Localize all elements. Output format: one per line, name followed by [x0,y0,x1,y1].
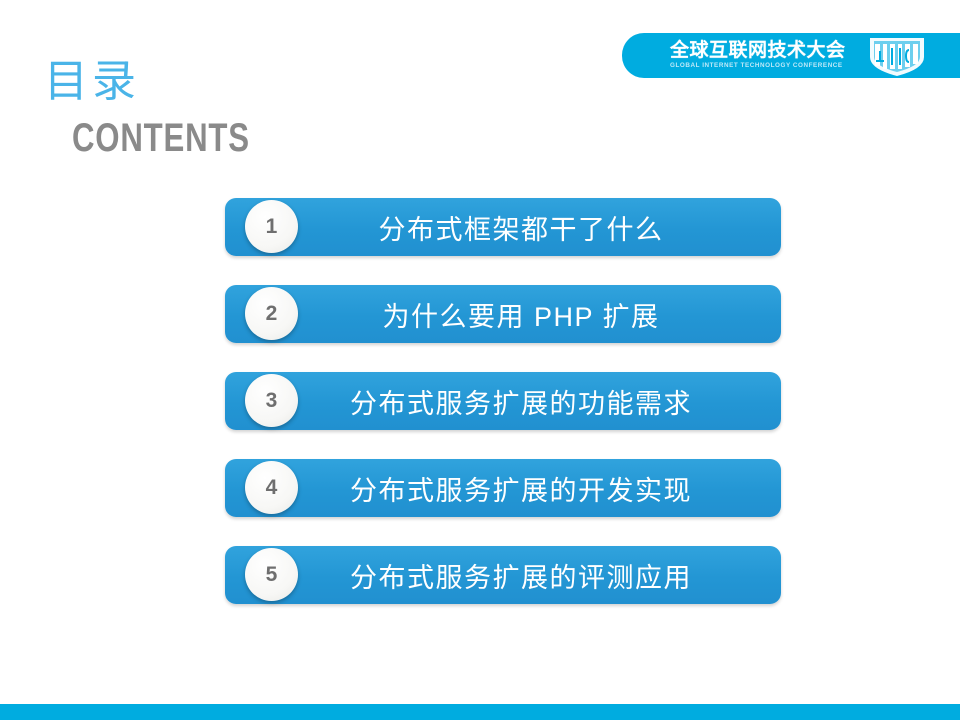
contents-list: 分布式框架都干了什么 1 为什么要用 PHP 扩展 2 分布式服务扩展的功能需求… [225,198,781,604]
list-item-number-badge: 2 [245,287,298,340]
footer-accent-bar [0,704,960,720]
list-item-number-badge: 5 [245,548,298,601]
list-item[interactable]: 为什么要用 PHP 扩展 2 [225,285,781,343]
list-item-number-badge: 1 [245,200,298,253]
page-title-en: CONTENTS [72,118,250,158]
list-item-number-badge: 3 [245,374,298,427]
conference-banner: 全球互联网技术大会 GLOBAL INTERNET TECHNOLOGY CON… [622,33,960,78]
list-item-label: 为什么要用 PHP 扩展 [225,285,781,343]
list-item-number-badge: 4 [245,461,298,514]
list-item-label: 分布式服务扩展的功能需求 [225,372,781,430]
presentation-slide: 全球互联网技术大会 GLOBAL INTERNET TECHNOLOGY CON… [0,0,960,720]
conference-name-en: GLOBAL INTERNET TECHNOLOGY CONFERENCE [670,63,849,69]
conference-name-block: 全球互联网技术大会 GLOBAL INTERNET TECHNOLOGY CON… [670,41,846,69]
list-item-label: 分布式框架都干了什么 [225,198,781,256]
list-item[interactable]: 分布式框架都干了什么 1 [225,198,781,256]
gitc-shield-logo-icon [862,35,932,77]
list-item-label: 分布式服务扩展的开发实现 [225,459,781,517]
list-item[interactable]: 分布式服务扩展的功能需求 3 [225,372,781,430]
list-item-label: 分布式服务扩展的评测应用 [225,546,781,604]
page-title-cn: 目录 [44,60,140,104]
list-item[interactable]: 分布式服务扩展的评测应用 5 [225,546,781,604]
list-item[interactable]: 分布式服务扩展的开发实现 4 [225,459,781,517]
conference-name-cn: 全球互联网技术大会 [670,41,846,60]
